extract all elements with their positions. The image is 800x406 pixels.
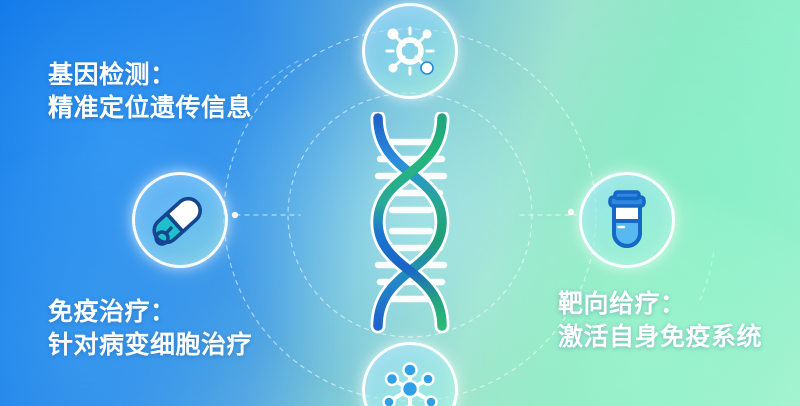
dna-helix-icon bbox=[352, 112, 468, 334]
gene-testing-description: 精准定位遗传信息 bbox=[48, 92, 252, 125]
gene-testing-text-block: 基因检测： 精准定位遗传信息 bbox=[48, 59, 252, 125]
molecule-node-icon bbox=[380, 21, 440, 81]
immunotherapy-title: 免疫治疗： bbox=[48, 296, 252, 329]
immunotherapy-text-block: 免疫治疗： 针对病变细胞治疗 bbox=[48, 296, 252, 362]
icon-badge-immunotherapy[interactable] bbox=[132, 172, 228, 268]
network-nodes-icon bbox=[379, 359, 441, 406]
gene-testing-title: 基因检测： bbox=[48, 59, 252, 92]
icon-badge-targeted-therapy[interactable] bbox=[579, 172, 675, 268]
test-tube-icon bbox=[599, 190, 655, 250]
targeted-therapy-title: 靶向给疗： bbox=[558, 288, 762, 321]
targeted-therapy-text-block: 靶向给疗： 激活自身免疫系统 bbox=[558, 288, 762, 354]
targeted-therapy-description: 激活自身免疫系统 bbox=[558, 321, 762, 354]
infographic-canvas: 基因检测： 精准定位遗传信息 免疫治疗： 针对病变细胞治疗 靶向给疗： 激活自身… bbox=[0, 0, 800, 406]
pill-capsule-icon bbox=[149, 189, 211, 251]
icon-badge-gene-testing[interactable] bbox=[362, 3, 458, 99]
immunotherapy-description: 针对病变细胞治疗 bbox=[48, 329, 252, 362]
